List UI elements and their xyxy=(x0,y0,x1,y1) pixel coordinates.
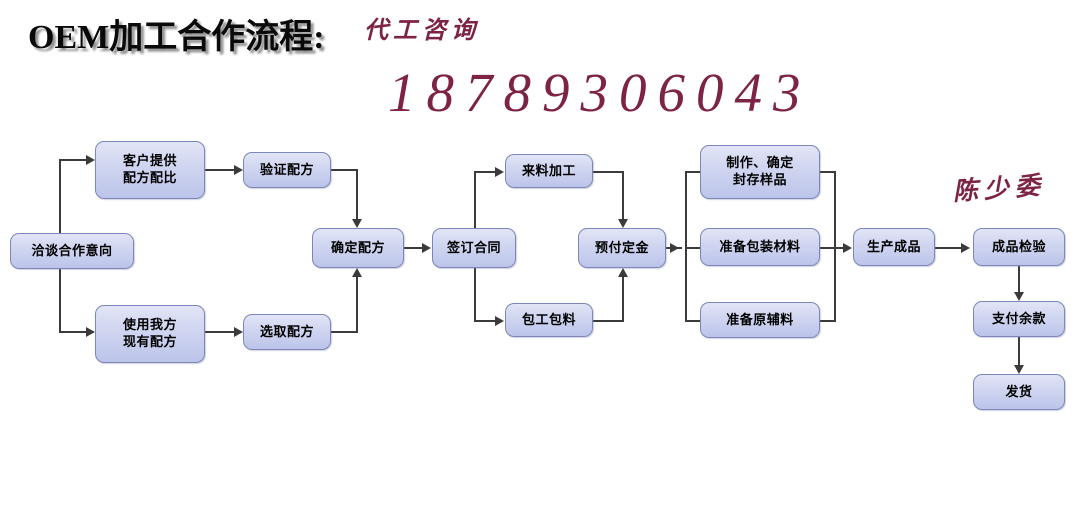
node-ship-goods[interactable]: 发货 xyxy=(973,374,1065,410)
node-pay-balance[interactable]: 支付余款 xyxy=(973,301,1065,337)
connector-fan-in-stem xyxy=(685,171,687,321)
connector-n4-to-n5 xyxy=(205,331,235,333)
node-finished-inspection[interactable]: 成品检验 xyxy=(973,228,1065,266)
arrowhead-n6-to-n7 xyxy=(422,243,431,253)
node-verify-formula[interactable]: 验证配方 xyxy=(243,152,331,188)
phone-number: 18789306043 xyxy=(388,62,812,124)
node-prepare-packaging[interactable]: 准备包装材料 xyxy=(700,228,820,266)
arrowhead-n7-to-n9 xyxy=(495,316,504,326)
connector-n1-to-n2 xyxy=(59,159,87,161)
connector-n7-to-n8 xyxy=(474,171,496,173)
connector-n8-drop xyxy=(622,171,624,220)
node-prepare-raw-materials[interactable]: 准备原辅料 xyxy=(700,302,820,338)
arrowhead-n8-to-n10 xyxy=(618,219,628,228)
node-use-our-formula[interactable]: 使用我方 现有配方 xyxy=(95,305,205,363)
arrowhead-to-n14 xyxy=(843,243,852,253)
arrowhead-n15-to-n16 xyxy=(1014,292,1024,301)
arrowhead-n16-to-n17 xyxy=(1014,365,1024,374)
connector-n16-to-n17 xyxy=(1018,337,1020,365)
node-make-confirm-sample[interactable]: 制作、确定 封存样品 xyxy=(700,145,820,199)
arrowhead-n5-to-n6 xyxy=(352,268,362,277)
consult-subtitle: 代工咨询 xyxy=(364,16,480,46)
arrowhead-n3-to-n6 xyxy=(352,219,362,228)
arrowhead-n1-to-n2 xyxy=(86,155,95,165)
connector-n7-to-n9 xyxy=(474,320,496,322)
signature-text: 陈少委 xyxy=(952,172,1047,208)
arrowhead-n14-to-n15 xyxy=(961,243,970,253)
node-client-provides-formula[interactable]: 客户提供 配方配比 xyxy=(95,141,205,199)
arrowhead-n1-to-n4 xyxy=(86,327,95,337)
arrowhead-n10-out xyxy=(670,243,679,253)
connector-n3-out xyxy=(331,169,358,171)
connector-n6-to-n7 xyxy=(404,247,423,249)
connector-n5-out xyxy=(331,331,358,333)
node-select-formula[interactable]: 选取配方 xyxy=(243,314,331,350)
node-produce-goods[interactable]: 生产成品 xyxy=(853,228,935,266)
connector-n14-to-n15 xyxy=(935,247,962,249)
connector-n9-rise xyxy=(622,276,624,322)
arrowhead-n9-to-n10 xyxy=(618,268,628,277)
node-consult-intent[interactable]: 洽谈合作意向 xyxy=(10,233,134,269)
connector-n1-to-n4 xyxy=(59,331,87,333)
connector-n15-to-n16 xyxy=(1018,266,1020,293)
node-incoming-material-processing[interactable]: 来料加工 xyxy=(505,154,593,188)
connector-fan-out-stem xyxy=(834,171,836,321)
arrowhead-n2-to-n3 xyxy=(234,165,243,175)
node-prepay-deposit[interactable]: 预付定金 xyxy=(578,228,666,268)
arrowhead-n7-to-n8 xyxy=(495,167,504,177)
node-sign-contract[interactable]: 签订合同 xyxy=(432,228,516,268)
connector-n8-out xyxy=(593,171,624,173)
flowchart-page: OEM加工合作流程: 代工咨询 18789306043 陈少委 xyxy=(0,0,1080,505)
connector-n3-drop xyxy=(356,169,358,220)
node-confirm-formula[interactable]: 确定配方 xyxy=(312,228,404,268)
arrowhead-n4-to-n5 xyxy=(234,327,243,337)
page-title: OEM加工合作流程: xyxy=(28,18,325,58)
connector-n2-to-n3 xyxy=(205,169,235,171)
node-full-package-service[interactable]: 包工包料 xyxy=(505,303,593,337)
connector-n9-out xyxy=(593,320,624,322)
connector-n5-rise xyxy=(356,276,358,333)
